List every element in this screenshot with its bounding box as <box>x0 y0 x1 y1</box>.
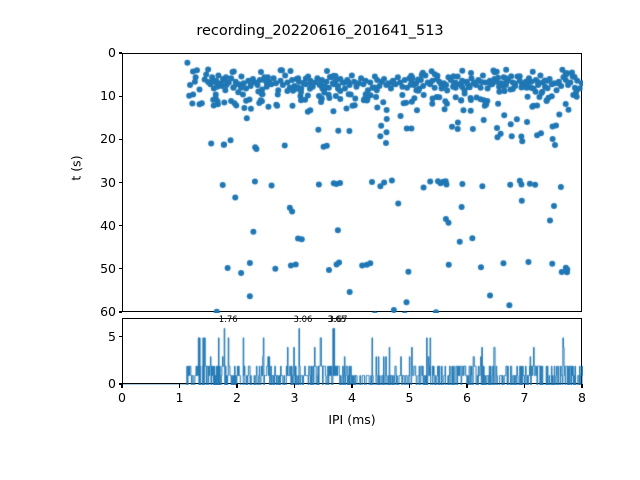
hist-xtick-label: 0 <box>102 390 142 405</box>
x-axis-label: IPI (ms) <box>328 412 375 427</box>
hist-xtick-label: 1 <box>160 390 200 405</box>
hist-xtick-mark <box>581 384 582 388</box>
hist-xtick-label: 2 <box>217 390 257 405</box>
hist-xtick-mark <box>294 384 295 388</box>
scatter-ytick-label: 0 <box>76 45 116 60</box>
scatter-ytick-mark <box>119 52 123 53</box>
hist-xtick-label: 6 <box>447 390 487 405</box>
figure-title: recording_20220616_201641_513 <box>0 23 640 39</box>
scatter-ytick-mark <box>119 311 123 312</box>
scatter-ytick-label: 10 <box>76 88 116 103</box>
hist-xtick-mark <box>409 384 410 388</box>
hist-ytick-mark <box>119 336 123 337</box>
hist-ytick-label: 5 <box>76 329 116 344</box>
hist-xtick-mark <box>121 384 122 388</box>
scatter-ytick-label: 40 <box>76 218 116 233</box>
histogram-axes <box>122 318 582 384</box>
matplotlib-figure: recording_20220616_201641_513 t (s) IPI … <box>0 0 640 480</box>
hist-xtick-label: 7 <box>505 390 545 405</box>
scatter-ytick-mark <box>119 268 123 269</box>
hist-ytick-label: 0 <box>76 376 116 391</box>
hist-xtick-mark <box>351 384 352 388</box>
scatter-ytick-mark <box>119 139 123 140</box>
histogram-peak-label: 1.76 <box>219 315 238 325</box>
hist-xtick-label: 5 <box>390 390 430 405</box>
scatter-points-layer <box>123 54 583 313</box>
hist-xtick-label: 8 <box>562 390 602 405</box>
histogram-peak-label: 3.06 <box>293 315 312 325</box>
hist-xtick-mark <box>466 384 467 388</box>
scatter-ytick-mark <box>119 182 123 183</box>
histogram-line-layer <box>123 319 583 385</box>
hist-xtick-mark <box>524 384 525 388</box>
scatter-ytick-label: 30 <box>76 175 116 190</box>
hist-xtick-mark <box>179 384 180 388</box>
scatter-ytick-label: 20 <box>76 131 116 146</box>
scatter-ytick-label: 50 <box>76 261 116 276</box>
hist-xtick-mark <box>236 384 237 388</box>
scatter-ytick-mark <box>119 96 123 97</box>
scatter-ytick-mark <box>119 225 123 226</box>
hist-xtick-label: 4 <box>332 390 372 405</box>
hist-xtick-label: 3 <box>275 390 315 405</box>
histogram-peak-label: 3.67 <box>329 315 348 325</box>
scatter-plot-axes <box>122 53 582 312</box>
scatter-ytick-label: 60 <box>76 304 116 319</box>
